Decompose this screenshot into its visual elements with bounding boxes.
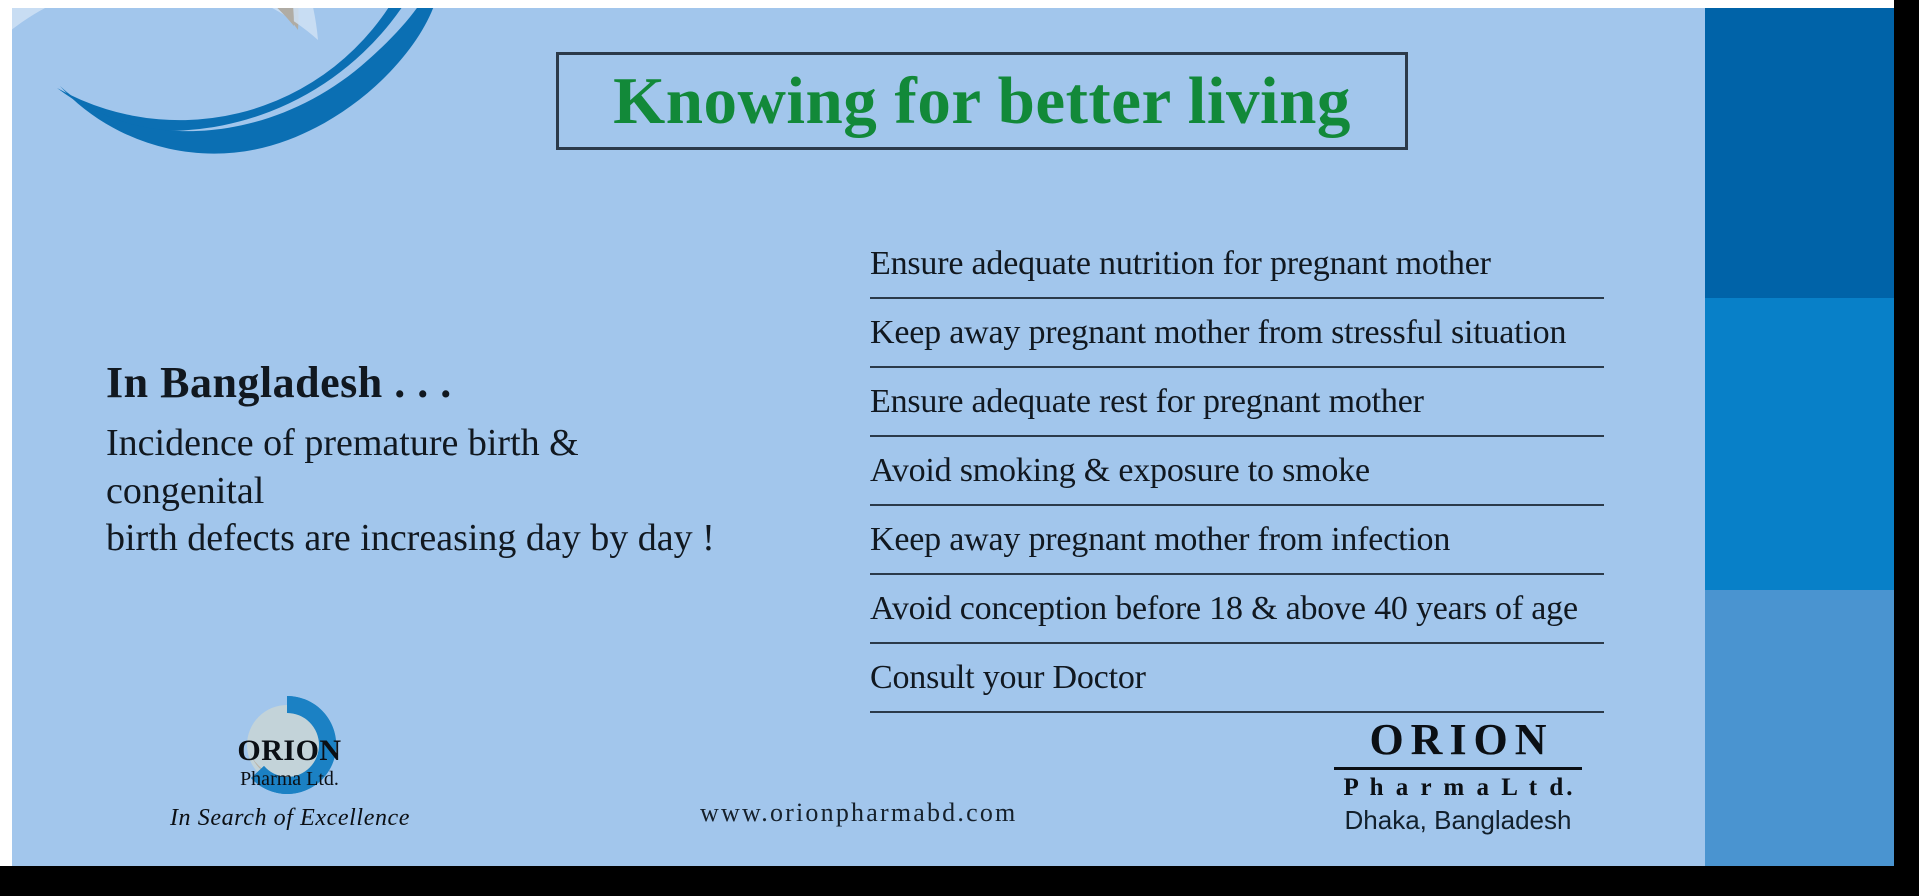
left-gutter (0, 0, 12, 866)
swoosh-blue-shape (57, 8, 413, 131)
orion-logo-ring-icon (227, 690, 347, 802)
rail-band-light-blue (1705, 590, 1894, 866)
rail-gap (1697, 8, 1705, 866)
advice-item: Ensure adequate rest for pregnant mother (870, 368, 1604, 437)
left-body: Incidence of premature birth & congenita… (106, 420, 746, 563)
artwork-canvas: Knowing for better living In Bangladesh … (12, 8, 1894, 866)
top-gutter (0, 0, 1894, 8)
headline-text: Knowing for better living (613, 68, 1351, 135)
left-heading: In Bangladesh . . . (106, 360, 746, 406)
poster-root: Knowing for better living In Bangladesh … (0, 0, 1919, 896)
corporate-name: ORION (1334, 718, 1582, 762)
swoosh-grey-shape-2 (12, 8, 294, 108)
right-color-rail (1705, 8, 1894, 866)
corner-swoosh-decoration (12, 8, 438, 180)
headline-box: Knowing for better living (556, 52, 1408, 150)
advice-item: Consult your Doctor (870, 644, 1604, 713)
advice-item: Ensure adequate nutrition for pregnant m… (870, 230, 1604, 299)
advice-item: Keep away pregnant mother from stressful… (870, 299, 1604, 368)
corporate-division: P h a r m a L t d. (1334, 774, 1582, 802)
website-url[interactable]: www.orionpharmabd.com (700, 800, 1017, 826)
advice-list: Ensure adequate nutrition for pregnant m… (870, 230, 1604, 713)
swoosh-pale-shape (12, 8, 318, 125)
advice-item: Keep away pregnant mother from infection (870, 506, 1604, 575)
advice-item: Avoid conception before 18 & above 40 ye… (870, 575, 1604, 644)
swoosh-grey-shape (12, 8, 299, 110)
left-body-line-1: Incidence of premature birth & congenita… (106, 420, 746, 515)
orion-logo-tagline: In Search of Excellence (140, 806, 440, 830)
swoosh-blue-tail (60, 8, 438, 154)
rail-band-medium-blue (1705, 298, 1894, 590)
left-body-line-2: birth defects are increasing day by day … (106, 515, 746, 563)
corporate-location: Dhaka, Bangladesh (1334, 805, 1582, 836)
left-text-column: In Bangladesh . . . Incidence of prematu… (106, 360, 746, 563)
advice-item: Avoid smoking & exposure to smoke (870, 437, 1604, 506)
rail-band-dark-blue (1705, 8, 1894, 298)
corporate-divider (1334, 767, 1582, 770)
corporate-block: ORION P h a r m a L t d. Dhaka, Banglade… (1334, 718, 1582, 836)
